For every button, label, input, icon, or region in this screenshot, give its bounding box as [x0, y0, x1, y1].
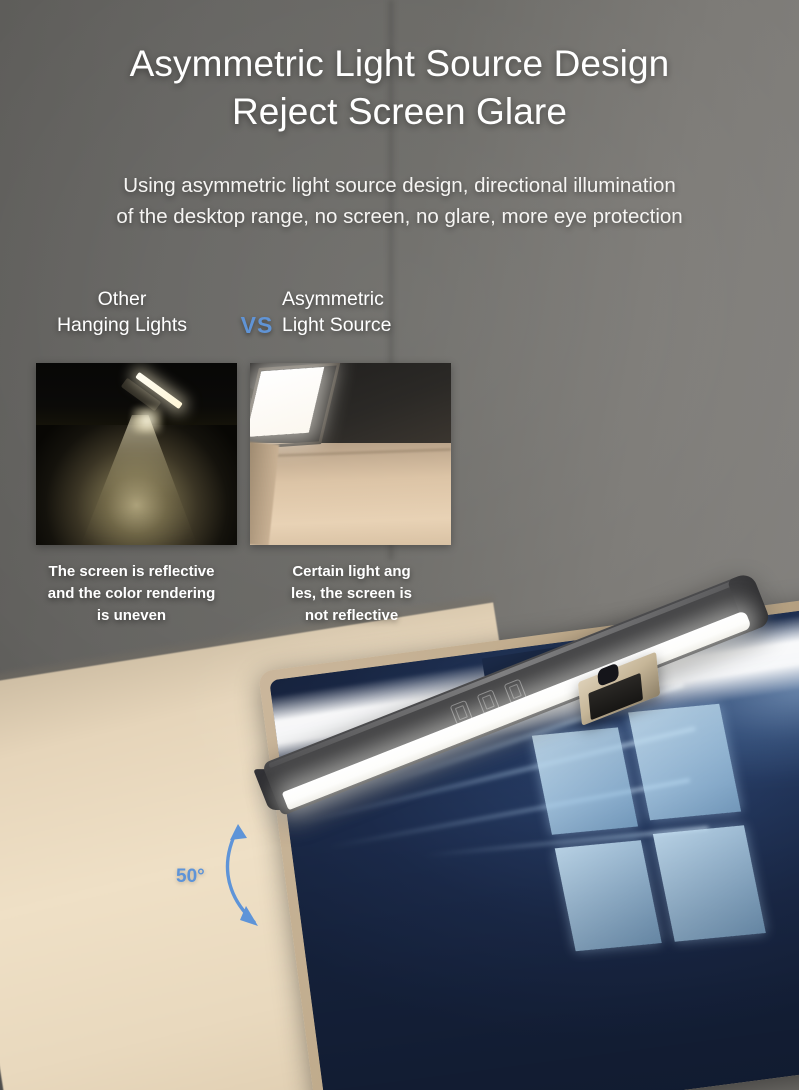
- caption-left-line-1: The screen is reflective: [14, 561, 249, 583]
- page-subtitle: Using asymmetric light source design, di…: [0, 170, 799, 232]
- photo-left-glare-hotspot: [132, 407, 162, 433]
- caption-right-line-2: les, the screen is: [254, 583, 449, 605]
- right-heading-line-1: Asymmetric: [282, 286, 467, 312]
- photo-asymmetric-light-source: [250, 363, 451, 545]
- headline-line-1: Asymmetric Light Source Design: [0, 40, 799, 88]
- right-heading-line-2: Light Source: [282, 312, 467, 338]
- subtitle-line-1: Using asymmetric light source design, di…: [0, 170, 799, 201]
- caption-right-line-1: Certain light ang: [254, 561, 449, 583]
- comparison-captions: The screen is reflective and the color r…: [14, 561, 464, 627]
- comparison-heading-left: Other Hanging Lights: [22, 286, 222, 338]
- tilt-angle-annotation: 50°: [176, 806, 306, 946]
- caption-left-line-3: is uneven: [14, 605, 249, 627]
- comparison-heading-right: Asymmetric Light Source: [282, 286, 467, 338]
- caption-right: Certain light ang les, the screen is not…: [254, 561, 449, 627]
- comparison-photos: [14, 363, 464, 553]
- page-headline: Asymmetric Light Source Design Reject Sc…: [0, 40, 799, 136]
- comparison-block: Other Hanging Lights VS Asymmetric Light…: [14, 286, 464, 627]
- caption-left: The screen is reflective and the color r…: [14, 561, 249, 627]
- product-feature-page: Asymmetric Light Source Design Reject Sc…: [0, 0, 799, 1090]
- left-heading-line-2: Hanging Lights: [22, 312, 222, 338]
- left-heading-line-1: Other: [22, 286, 222, 312]
- subtitle-line-2: of the desktop range, no screen, no glar…: [0, 201, 799, 232]
- photo-other-hanging-lights: [36, 363, 237, 545]
- angle-label: 50°: [176, 866, 205, 888]
- vs-label: VS: [228, 312, 286, 339]
- comparison-headings: Other Hanging Lights VS Asymmetric Light…: [14, 286, 464, 348]
- headline-line-2: Reject Screen Glare: [0, 88, 799, 136]
- caption-left-line-2: and the color rendering: [14, 583, 249, 605]
- caption-right-line-3: not reflective: [254, 605, 449, 627]
